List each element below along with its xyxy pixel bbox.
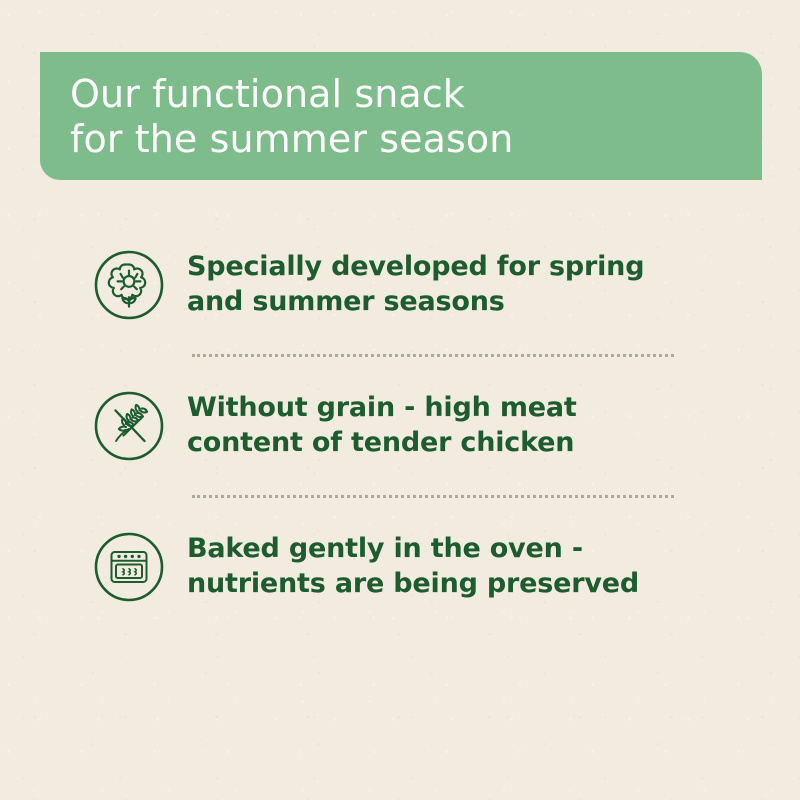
oven-icon — [93, 531, 165, 603]
feature-text: Baked gently in the oven - nutrients are… — [187, 532, 639, 601]
feature-item-grain-free: Without grain - high meat content of ten… — [0, 371, 800, 481]
feature-divider — [192, 495, 674, 498]
feature-text: Without grain - high meat content of ten… — [187, 391, 577, 460]
feature-item-oven-baked: Baked gently in the oven - nutrients are… — [0, 512, 800, 622]
feature-text: Specially developed for spring and summe… — [187, 250, 644, 319]
page-title: Our functional snack for the summer seas… — [70, 72, 762, 162]
header-banner: Our functional snack for the summer seas… — [40, 52, 762, 180]
flower-icon — [93, 249, 165, 321]
no-grain-icon — [93, 390, 165, 462]
feature-divider — [192, 354, 674, 357]
features-list: Specially developed for spring and summe… — [0, 230, 800, 622]
feature-item-spring-summer: Specially developed for spring and summe… — [0, 230, 800, 340]
